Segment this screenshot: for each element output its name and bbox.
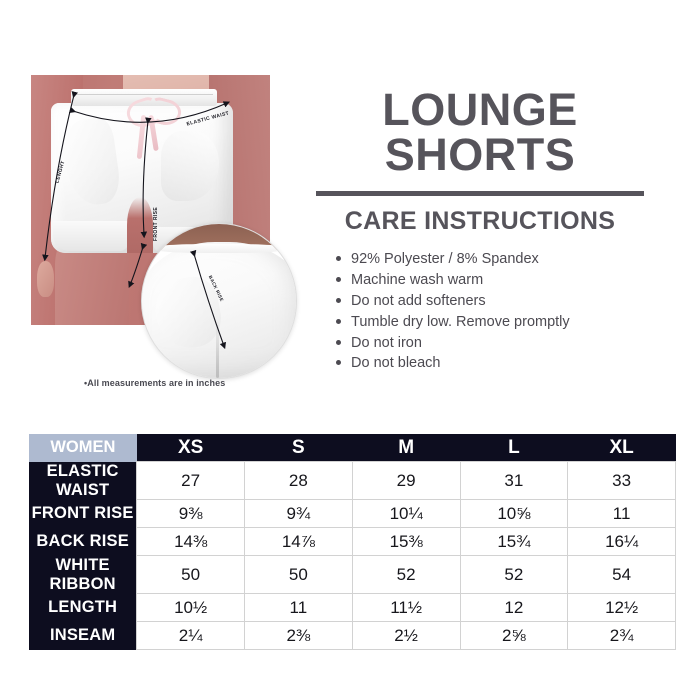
table-cell: 52 [460,556,568,594]
table-cell: 10¼ [352,500,460,528]
title-line-1: LOUNGE [316,88,644,133]
table-cell: 12 [460,594,568,622]
table-cell: 11½ [352,594,460,622]
table-cell: 16¼ [568,528,676,556]
table-cell: 2½ [352,622,460,650]
table-cell: 2¼ [137,622,245,650]
table-row-label: INSEAM [29,622,137,650]
title-divider [316,191,644,196]
care-instruction-item: Tumble dry low. Remove promptly [334,312,644,333]
table-row-label: LENGTH [29,594,137,622]
table-cell: 33 [568,462,676,500]
table-cell: 54 [568,556,676,594]
table-corner-label: WOMEN [29,434,137,462]
back-rise-inset: BACK RISE [141,223,297,379]
table-row-label: FRONT RISE [29,500,137,528]
table-cell: 27 [137,462,245,500]
table-row: LENGTH10½1111½1212½ [29,594,676,622]
table-row-label: ELASTIC WAIST [29,462,137,500]
table-row: FRONT RISE9⅜9¾10¼10⅝11 [29,500,676,528]
table-cell: 2¾ [568,622,676,650]
table-cell: 50 [245,556,353,594]
table-cell: 10½ [137,594,245,622]
table-cell: 2⅜ [245,622,353,650]
table-cell: 29 [352,462,460,500]
table-size-header: L [460,434,568,462]
table-cell: 11 [568,500,676,528]
table-cell: 52 [352,556,460,594]
table-cell: 50 [137,556,245,594]
table-cell: 2⅝ [460,622,568,650]
care-instruction-item: Do not add softeners [334,291,644,312]
care-instruction-item: 92% Polyester / 8% Spandex [334,249,644,270]
info-column: LOUNGE SHORTS CARE INSTRUCTIONS 92% Poly… [316,88,644,374]
table-size-header: XL [568,434,676,462]
table-row-label: BACK RISE [29,528,137,556]
care-instruction-item: Do not bleach [334,353,644,374]
table-row-label: WHITE RIBBON [29,556,137,594]
table-cell: 28 [245,462,353,500]
table-size-header: XS [137,434,245,462]
title-line-2: SHORTS [316,133,644,178]
table-cell: 31 [460,462,568,500]
table-row: INSEAM2¼2⅜2½2⅝2¾ [29,622,676,650]
measurements-footnote: •All measurements are in inches [84,378,225,388]
table-cell: 9¾ [245,500,353,528]
table-cell: 9⅜ [137,500,245,528]
table-size-header: S [245,434,353,462]
care-instructions-heading: CARE INSTRUCTIONS [316,207,644,236]
size-chart-page: ELASTIC WAIST LENGHT FRONT RISE INSEAM [0,0,700,700]
care-instruction-item: Do not iron [334,333,644,354]
table-row: BACK RISE14⅜14⅞15⅜15¾16¼ [29,528,676,556]
table-row: WHITE RIBBON5050525254 [29,556,676,594]
table-cell: 14⅜ [137,528,245,556]
table-row: ELASTIC WAIST2728293133 [29,462,676,500]
table-cell: 12½ [568,594,676,622]
page-title: LOUNGE SHORTS [316,88,644,177]
care-instructions-list: 92% Polyester / 8% SpandexMachine wash w… [334,249,644,374]
size-chart-table: WOMENXSSMLXLELASTIC WAIST2728293133FRONT… [29,434,676,650]
table-cell: 15⅜ [352,528,460,556]
table-cell: 14⅞ [245,528,353,556]
table-cell: 10⅝ [460,500,568,528]
table-header-row: WOMENXSSMLXL [29,434,676,462]
table-cell: 15¾ [460,528,568,556]
care-instruction-item: Machine wash warm [334,270,644,291]
top-section: ELASTIC WAIST LENGHT FRONT RISE INSEAM [0,0,700,420]
table-size-header: M [352,434,460,462]
table-cell: 11 [245,594,353,622]
